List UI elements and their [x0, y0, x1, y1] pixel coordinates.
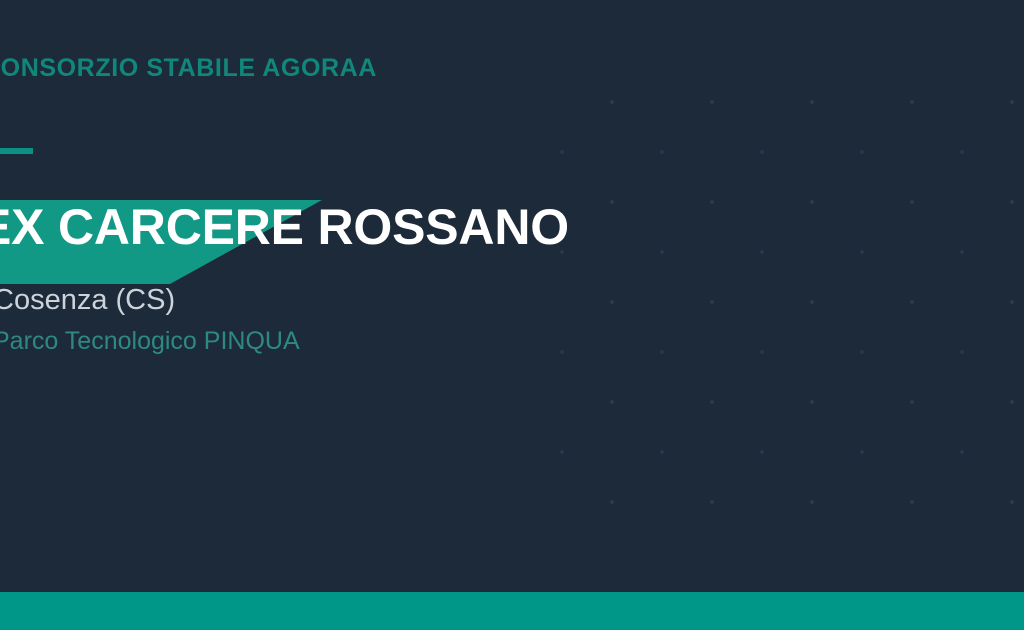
company-eyebrow-label: CONSORZIO STABILE AGORAA — [0, 54, 377, 83]
project-location-label: Cosenza (CS) — [0, 282, 175, 318]
teal-accent-dash — [0, 148, 33, 154]
background-dot-grid-icon — [560, 80, 1024, 520]
page-title: EX CARCERE ROSSANO — [0, 200, 569, 254]
title-slide: CONSORZIO STABILE AGORAA EX CARCERE ROSS… — [0, 0, 1024, 630]
project-programme-label: Parco Tecnologico PINQUA — [0, 325, 300, 357]
bottom-accent-bar — [0, 592, 1024, 630]
